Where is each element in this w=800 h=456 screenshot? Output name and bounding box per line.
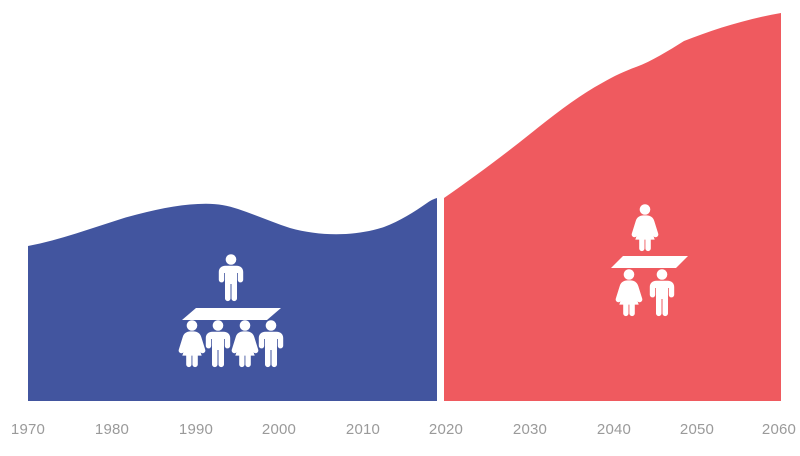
- chart-container: 1970 1980 1990 2000 2010 2020 2030 2040 …: [0, 0, 800, 456]
- series-projection: [444, 13, 781, 401]
- x-tick-label: 1980: [95, 421, 129, 438]
- x-tick-label: 2050: [680, 421, 714, 438]
- x-axis-tick-labels: 1970 1980 1990 2000 2010 2020 2030 2040 …: [11, 421, 796, 438]
- x-tick-label: 2010: [346, 421, 380, 438]
- platform-slab-icon: [182, 308, 281, 320]
- x-tick-label: 2020: [429, 421, 463, 438]
- x-tick-label: 2000: [262, 421, 296, 438]
- projection-area-shape: [444, 13, 781, 401]
- x-tick-label: 2040: [597, 421, 631, 438]
- area-chart: 1970 1980 1990 2000 2010 2020 2030 2040 …: [0, 0, 800, 456]
- x-tick-label: 2060: [762, 421, 796, 438]
- x-tick-label: 2030: [513, 421, 547, 438]
- platform-slab-icon: [611, 256, 688, 268]
- x-tick-label: 1970: [11, 421, 45, 438]
- x-tick-label: 1990: [179, 421, 213, 438]
